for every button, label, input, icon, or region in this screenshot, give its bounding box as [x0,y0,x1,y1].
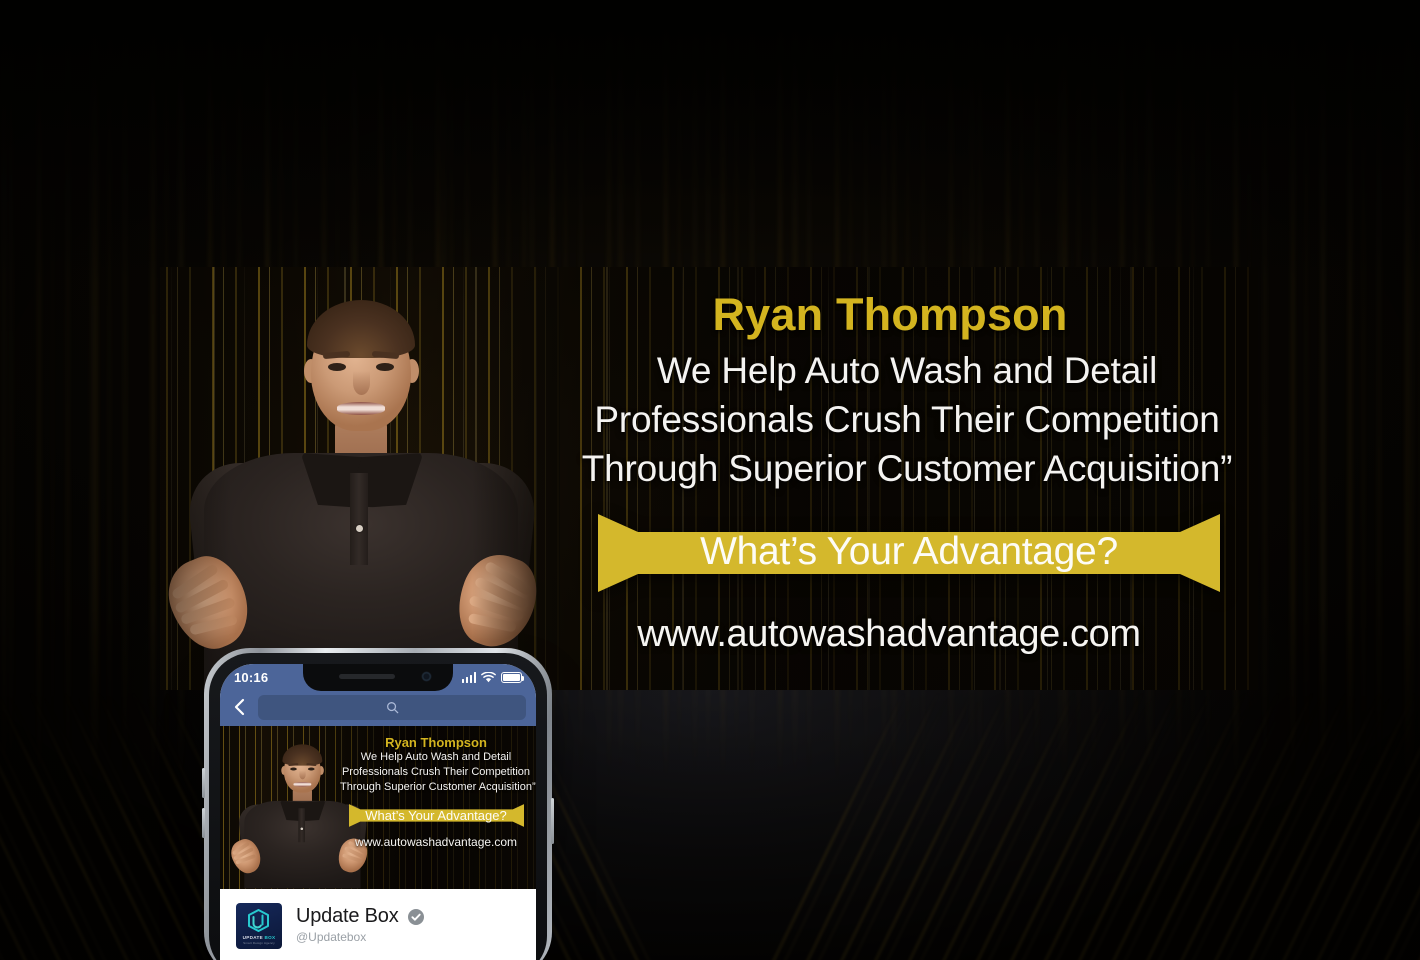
promo-mockup-canvas: Ryan Thompson We Help Auto Wash and Deta… [0,0,1420,960]
author-display-name: Update Box [296,905,399,928]
mini-banner-ribbon-text: What’s Your Advantage? [349,803,524,828]
search-icon [386,701,399,714]
mini-presenter-photo [228,732,274,790]
app-header-bar: 10:16 [220,664,536,726]
app-nav-row [220,693,536,721]
author-name-row: Update Box [296,905,424,928]
banner-website-url: www.autowashadvantage.com [560,613,1218,656]
banner-ribbon: What’s Your Advantage? [598,510,1220,596]
verified-check-icon [408,909,424,925]
phone-volume-down-button[interactable] [202,808,205,838]
main-banner-artwork: Ryan Thompson We Help Auto Wash and Deta… [160,267,1258,690]
status-bar: 10:16 [220,664,536,691]
phone-body: 10:16 [209,653,547,960]
avatar-logo-text: UPDATE BOX [236,935,282,940]
banner-headline-line-2: Professionals Crush Their Competition [560,399,1254,441]
battery-icon [501,672,522,683]
phone-power-button[interactable] [551,798,554,844]
update-box-logo-icon [243,908,275,935]
wifi-icon [481,672,496,683]
mini-banner-line-2: Professionals Crush Their Competition [340,765,532,780]
backdrop-top-fade [0,0,1420,288]
status-bar-indicators [462,672,523,683]
phone-mockup: 10:16 [204,648,552,960]
phone-volume-up-button[interactable] [202,768,205,798]
status-bar-time: 10:16 [234,670,268,685]
banner-copy-block: Ryan Thompson We Help Auto Wash and Deta… [560,267,1258,690]
avatar-tagline: Smart Design Agency [236,941,282,945]
cellular-signal-icon [462,672,477,683]
mini-banner-copy: Ryan Thompson We Help Auto Wash and Deta… [340,726,532,849]
back-chevron-icon[interactable] [230,697,250,717]
author-handle: @Updatebox [296,930,424,944]
mini-banner-url: www.autowashadvantage.com [340,835,532,849]
post-author-row[interactable]: UPDATE BOX Smart Design Agency Update Bo… [220,889,536,960]
mini-banner-line-3: Through Superior Customer Acquisition” [340,780,532,795]
mini-banner-ribbon: What’s Your Advantage? [349,803,524,828]
phone-screen: 10:16 [220,664,536,960]
banner-ribbon-text: What’s Your Advantage? [598,510,1220,596]
presenter-photo [160,267,560,690]
avatar[interactable]: UPDATE BOX Smart Design Agency [236,903,282,949]
author-meta: Update Box @Updatebox [296,903,424,944]
post-media-banner[interactable]: Ryan Thompson We Help Auto Wash and Deta… [220,726,536,889]
banner-headline-line-3: Through Superior Customer Acquisition” [560,448,1254,490]
presenter-edge-fade [160,267,560,690]
mini-banner-line-1: We Help Auto Wash and Detail [340,750,532,765]
banner-presenter-name: Ryan Thompson [560,289,1220,341]
search-input[interactable] [258,695,526,720]
mini-banner-name: Ryan Thompson [340,735,532,750]
banner-headline-line-1: We Help Auto Wash and Detail [560,350,1254,392]
